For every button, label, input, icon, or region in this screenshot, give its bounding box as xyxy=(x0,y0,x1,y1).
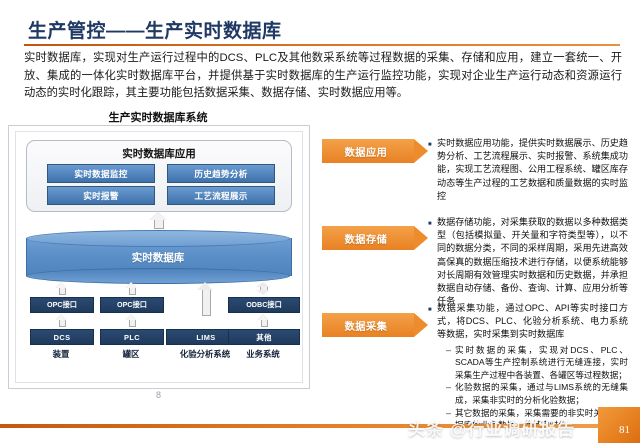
bullet-item: 实时数据应用功能，提供实时数据展示、历史趋势分析、工艺流程展示、实时报警、系统集… xyxy=(428,137,628,203)
bullet-item: 数据存储功能，对采集获取的数据以多种数据类型（包括模拟量、开关量和字符类型等），… xyxy=(428,216,628,308)
sub-bullet-dash-icon: – xyxy=(446,344,455,357)
intro-paragraph: 实时数据库，实现对生产运行过程中的DCS、PLC及其他数采系统等过程数据的采集、… xyxy=(24,50,622,103)
sub-bullet-text: 实时数据的采集，实现对DCS、PLC、SCADA等生产控制系统进行无缝连接，实时… xyxy=(455,344,628,382)
callout-data-acquisition-label: 数据采集 xyxy=(322,313,410,337)
application-panel-title: 实时数据库应用 xyxy=(27,146,291,161)
arrow-opc-to-db-icon xyxy=(55,282,67,295)
bullet-text: 实时数据应用功能，提供实时数据展示、历史趋势分析、工艺流程展示、实时报警、系统集… xyxy=(437,137,628,203)
bullet-item: 数据采集功能，通过OPC、API等实时接口方式，将DCS、PLC、化验分析系统、… xyxy=(428,302,628,342)
arrow-plc-to-opc-icon xyxy=(125,314,137,327)
center-page-mark: 8 xyxy=(156,390,161,400)
page-number: 81 xyxy=(619,424,630,436)
interface-opc-dcs[interactable]: OPC接口 xyxy=(30,297,94,313)
title-divider xyxy=(24,44,620,46)
callout-data-storage[interactable]: 数据存储 xyxy=(322,226,414,250)
diagram-inner-frame: 实时数据库应用 实时数据监控 实时报警 历史趋势分析 工艺流程展示 实时数据库 xyxy=(15,131,303,383)
arrow-odbc-bidirectional-icon xyxy=(256,282,270,295)
callout-arrow-tip-icon xyxy=(414,139,428,163)
arrow-other-to-odbc-icon xyxy=(257,314,269,327)
caption-plc: 罐区 xyxy=(92,348,170,360)
arrow-dcs-to-opc-icon xyxy=(55,314,67,327)
bullet-text: 数据存储功能，对采集获取的数据以多种数据类型（包括模拟量、开关量和字符类型等），… xyxy=(437,216,628,308)
callout-data-acquisition[interactable]: 数据采集 xyxy=(322,313,414,337)
callout-data-storage-label: 数据存储 xyxy=(322,226,410,250)
bullet-text: 数据采集功能，通过OPC、API等实时接口方式，将DCS、PLC、化验分析系统、… xyxy=(437,302,628,342)
node-dcs[interactable]: DCS xyxy=(30,329,94,345)
arrow-opc2-to-db-icon xyxy=(125,282,137,295)
callout-arrow-tip-icon xyxy=(414,313,428,337)
diagram-container: 实时数据库应用 实时数据监控 实时报警 历史趋势分析 工艺流程展示 实时数据库 xyxy=(8,125,310,389)
sub-bullet-item: – 化验数据的采集，通过与LIMS系统的无缝集成，采集非实时的分析化验数据； xyxy=(446,381,628,406)
application-panel: 实时数据库应用 实时数据监控 实时报警 历史趋势分析 工艺流程展示 xyxy=(26,140,292,212)
interface-opc-plc[interactable]: OPC接口 xyxy=(100,297,164,313)
bullet-marker-icon xyxy=(428,216,437,231)
realtime-database-cylinder: 实时数据库 xyxy=(26,230,290,280)
sub-bullet-dash-icon: – xyxy=(446,381,455,394)
sub-bullet-dash-icon: – xyxy=(446,407,455,420)
callout-data-application-label: 数据应用 xyxy=(322,139,410,163)
bullet-marker-icon xyxy=(428,137,437,152)
bullets-data-storage: 数据存储功能，对采集获取的数据以多种数据类型（包括模拟量、开关量和字符类型等），… xyxy=(428,216,628,308)
interface-odbc[interactable]: ODBC接口 xyxy=(228,297,300,313)
app-chip-realtime-monitor[interactable]: 实时数据监控 xyxy=(47,164,155,183)
app-chip-process-flow[interactable]: 工艺流程展示 xyxy=(167,186,275,205)
realtime-database-label: 实时数据库 xyxy=(26,250,290,265)
slide-root: 生产管控——生产实时数据库 实时数据库，实现对生产运行过程中的DCS、PLC及其… xyxy=(0,0,640,443)
caption-business-system: 业务系统 xyxy=(224,348,302,360)
sub-bullet-item: – 实时数据的采集，实现对DCS、PLC、SCADA等生产控制系统进行无缝连接，… xyxy=(446,344,628,382)
app-chip-realtime-alarm[interactable]: 实时报警 xyxy=(47,186,155,205)
node-other[interactable]: 其他 xyxy=(228,329,300,345)
caption-dcs: 装置 xyxy=(22,348,100,360)
bullets-data-application: 实时数据应用功能，提供实时数据展示、历史趋势分析、工艺流程展示、实时报警、系统集… xyxy=(428,137,628,203)
arrow-db-to-application-icon xyxy=(149,212,167,228)
app-chip-history-trend[interactable]: 历史趋势分析 xyxy=(167,164,275,183)
diagram-title: 生产实时数据库系统 xyxy=(0,109,316,125)
callout-arrow-tip-icon xyxy=(414,226,428,250)
bullet-marker-icon xyxy=(428,302,437,317)
arrow-lims-to-db-icon xyxy=(197,282,213,316)
callout-data-application[interactable]: 数据应用 xyxy=(322,139,414,163)
footer-area xyxy=(0,428,640,443)
page-title: 生产管控——生产实时数据库 xyxy=(28,16,282,43)
node-plc[interactable]: PLC xyxy=(100,329,164,345)
sub-bullet-text: 化验数据的采集，通过与LIMS系统的无缝集成，采集非实时的分析化验数据； xyxy=(455,381,628,406)
